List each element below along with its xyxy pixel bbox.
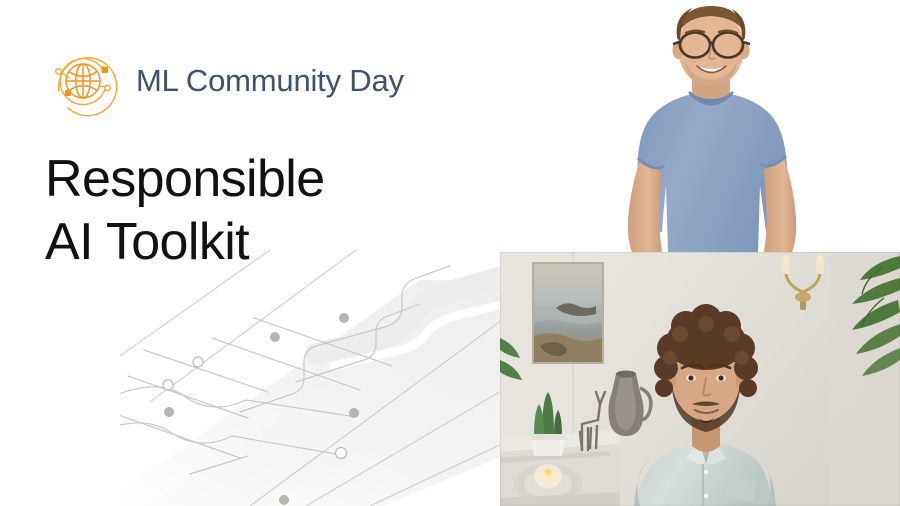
circuit-connectors: [240, 266, 450, 412]
brand-name: ML Community Day: [136, 63, 404, 99]
orbit-node-square: [65, 90, 71, 96]
globe-orbit-icon: [44, 42, 122, 120]
orbit-node-hollow: [56, 69, 62, 75]
circuit-nodes: [163, 313, 359, 506]
orbit-node-square: [102, 67, 109, 74]
brand-lockup: ML Community Day: [44, 42, 404, 120]
ribbon-shape-inner: [334, 298, 528, 366]
presenter-photo-cutout: [600, 0, 900, 252]
circuit-node-hollow: [336, 448, 347, 459]
circuit-trace-decoration: [120, 250, 540, 506]
presentation-slide: ML Community Day Responsible AI Toolkit: [0, 0, 900, 506]
diagonal-band-group: [120, 280, 540, 506]
circuit-hairlines: [120, 250, 540, 506]
page-title-line-1: Responsible: [45, 148, 485, 211]
candle: [534, 464, 562, 488]
circuit-node-filled: [270, 332, 280, 342]
page-title-line-2: AI Toolkit: [45, 211, 485, 274]
page-title: Responsible AI Toolkit: [45, 148, 485, 274]
webcam-video-feed[interactable]: [500, 252, 900, 506]
circuit-node-filled: [164, 407, 174, 417]
seascape-painting: [532, 262, 604, 364]
circuit-node-filled: [349, 408, 359, 418]
circuit-node-hollow: [163, 380, 173, 390]
circuit-node-hollow: [193, 357, 203, 367]
circuit-node-filled: [339, 313, 349, 323]
orbit-node-hollow: [105, 85, 111, 91]
circuit-traces: [120, 318, 392, 474]
circuit-node-filled: [279, 495, 289, 505]
